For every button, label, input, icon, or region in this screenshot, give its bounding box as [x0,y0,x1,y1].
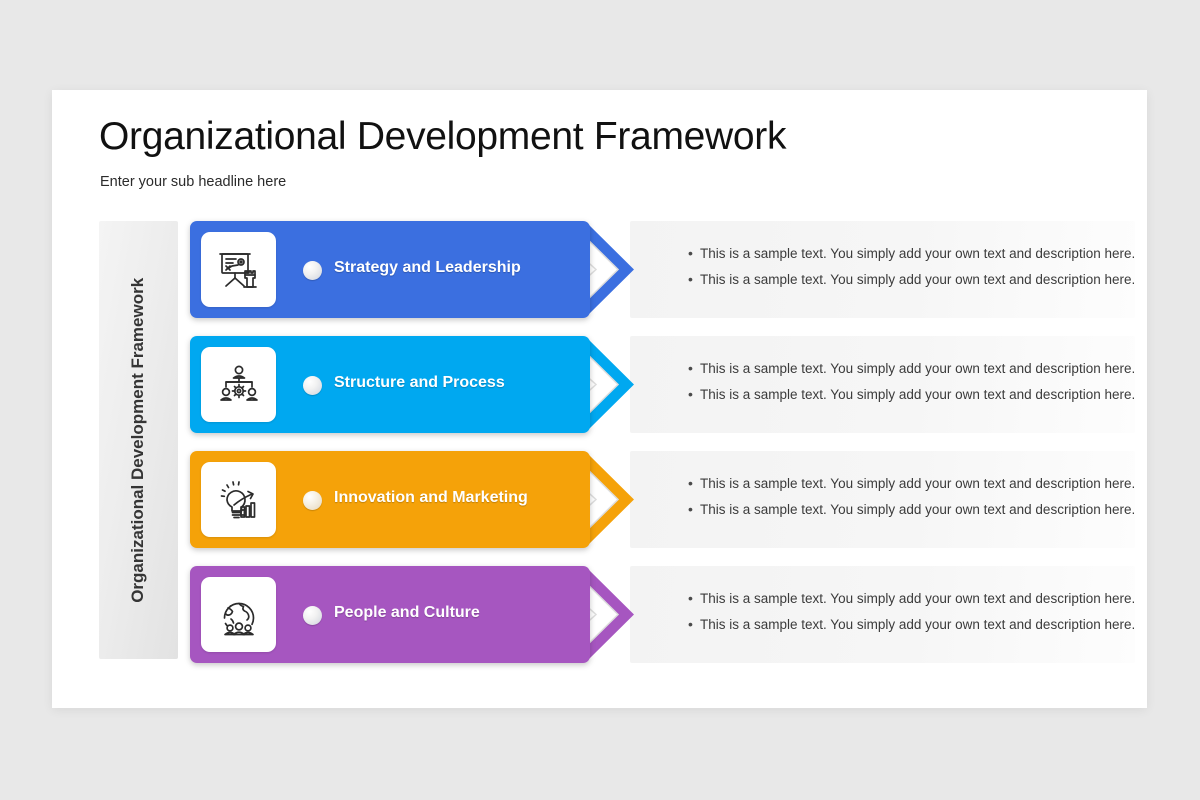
row-arrow-point [534,451,590,548]
list-item: • This is a sample text. You simply add … [688,501,1135,518]
bullet-dot-icon: • [688,475,700,492]
globe-people-icon [201,577,276,652]
row-bar[interactable]: Strategy and Leadership [190,221,590,318]
row-arrow-point [534,566,590,663]
bullet-text: This is a sample text. You simply add yo… [700,475,1135,492]
bullet-dot-icon: • [688,616,700,633]
bullet-text: This is a sample text. You simply add yo… [700,590,1135,607]
framework-row[interactable]: • This is a sample text. You simply add … [190,451,1135,548]
list-item: • This is a sample text. You simply add … [688,386,1135,403]
list-item: • This is a sample text. You simply add … [688,245,1135,262]
row-label: People and Culture [334,604,480,622]
row-label: Structure and Process [334,374,505,392]
bullet-text: This is a sample text. You simply add yo… [700,501,1135,518]
framework-row[interactable]: • This is a sample text. You simply add … [190,566,1135,663]
list-item: • This is a sample text. You simply add … [688,475,1135,492]
page-title: Organizational Development Framework [99,115,786,159]
row-status-circle [303,376,322,395]
list-item: • This is a sample text. You simply add … [688,590,1135,607]
bullet-dot-icon: • [688,271,700,288]
vertical-label-text: Organizational Development Framework [126,278,151,603]
row-bullet-list: • This is a sample text. You simply add … [688,245,1135,297]
bullet-text: This is a sample text. You simply add yo… [700,271,1135,288]
list-item: • This is a sample text. You simply add … [688,616,1135,633]
row-status-circle [303,261,322,280]
vertical-label-panel: Organizational Development Framework [99,221,178,659]
bullet-dot-icon: • [688,245,700,262]
list-item: • This is a sample text. You simply add … [688,271,1135,288]
row-arrow-point [534,336,590,433]
row-text-panel: • This is a sample text. You simply add … [630,451,1135,548]
row-status-circle [303,491,322,510]
bullet-dot-icon: • [688,360,700,377]
bullet-dot-icon: • [688,386,700,403]
bullet-text: This is a sample text. You simply add yo… [700,616,1135,633]
row-text-panel: • This is a sample text. You simply add … [630,221,1135,318]
bullet-dot-icon: • [688,590,700,607]
row-bullet-list: • This is a sample text. You simply add … [688,475,1135,527]
bullet-dot-icon: • [688,501,700,518]
framework-row[interactable]: • This is a sample text. You simply add … [190,336,1135,433]
slide-canvas: Organizational Development Framework Ent… [52,90,1147,708]
row-bar[interactable]: Innovation and Marketing [190,451,590,548]
list-item: • This is a sample text. You simply add … [688,360,1135,377]
framework-row[interactable]: • This is a sample text. You simply add … [190,221,1135,318]
row-arrow-point [534,221,590,318]
row-bullet-list: • This is a sample text. You simply add … [688,360,1135,412]
org-chart-gear-icon [201,347,276,422]
row-status-circle [303,606,322,625]
row-label: Strategy and Leadership [334,259,521,277]
row-bullet-list: • This is a sample text. You simply add … [688,590,1135,642]
bullet-text: This is a sample text. You simply add yo… [700,245,1135,262]
bullet-text: This is a sample text. You simply add yo… [700,386,1135,403]
row-bar[interactable]: Structure and Process [190,336,590,433]
row-text-panel: • This is a sample text. You simply add … [630,566,1135,663]
lightbulb-growth-chart-icon [201,462,276,537]
bullet-text: This is a sample text. You simply add yo… [700,360,1135,377]
page-subtitle: Enter your sub headline here [100,174,286,190]
row-label: Innovation and Marketing [334,489,528,507]
presentation-strategy-icon [201,232,276,307]
row-bar[interactable]: People and Culture [190,566,590,663]
row-text-panel: • This is a sample text. You simply add … [630,336,1135,433]
